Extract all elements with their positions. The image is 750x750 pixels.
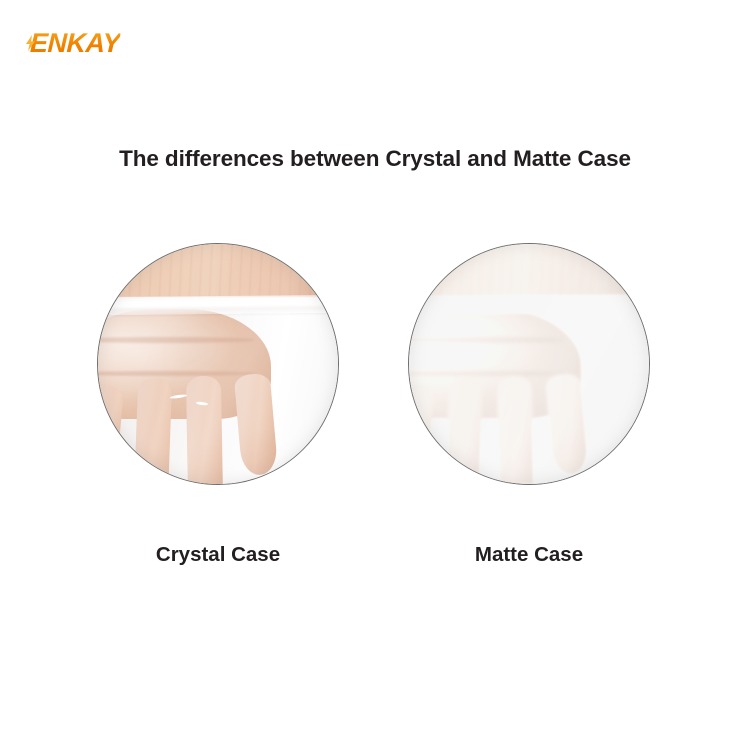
- crystal-case-caption: Crystal Case: [97, 543, 339, 567]
- brand-wordmark: ENKAY: [30, 30, 121, 57]
- brand-logo: ENKAY: [30, 28, 120, 58]
- matte-case-photo: [408, 243, 650, 485]
- matte-case-caption: Matte Case: [408, 543, 650, 567]
- crystal-case-photo: [97, 243, 339, 485]
- page-title: The differences between Crystal and Matt…: [0, 146, 750, 172]
- comparison-item-matte: Matte Case: [408, 243, 650, 485]
- comparison-item-crystal: Crystal Case: [97, 243, 339, 485]
- lightning-bolt-icon: [25, 35, 36, 51]
